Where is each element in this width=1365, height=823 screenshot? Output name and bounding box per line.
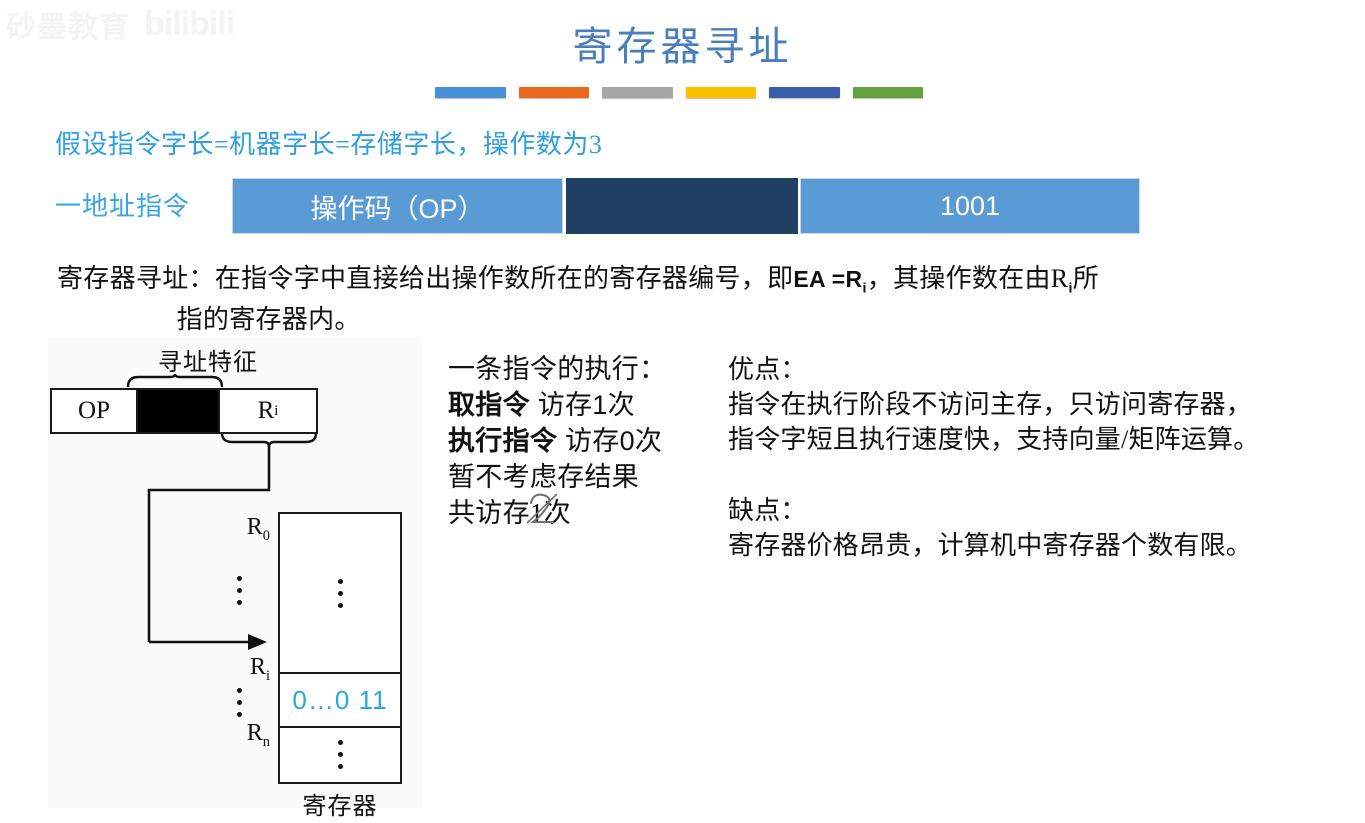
cons-heading: 缺点： bbox=[728, 493, 1348, 528]
slide: 砂墨教育 bilibili 寄存器寻址 假设指令字长=机器字长=存储字长，操作数… bbox=[0, 0, 1365, 823]
register-label-dots-upper bbox=[208, 576, 270, 605]
register-label-r0-letter: R bbox=[247, 514, 263, 540]
rule-segment-5 bbox=[769, 87, 840, 98]
register-label-rn-subscript: n bbox=[263, 734, 270, 750]
addressing-feature-caption: 寻址特征 bbox=[128, 342, 288, 377]
pros-line-2: 指令字短且执行速度快，支持向量/矩阵运算。 bbox=[728, 422, 1348, 457]
register-label-r0: R0 bbox=[208, 514, 270, 545]
word-opcode-field: OP bbox=[52, 390, 138, 432]
rule-segment-3 bbox=[602, 87, 673, 98]
page-title: 寄存器寻址 bbox=[0, 14, 1365, 72]
definition-ea-text: EA =R bbox=[793, 266, 862, 292]
execution-execute-count: 访存0次 bbox=[557, 426, 662, 456]
instruction-addressing-mode-cell bbox=[566, 178, 798, 234]
addressing-feature-brace-icon bbox=[126, 374, 224, 388]
definition-text-a: 寄存器寻址：在指令字中直接给出操作数所在的寄存器编号，即 bbox=[57, 264, 793, 293]
word-register-letter: R bbox=[258, 397, 275, 425]
rule-segment-2 bbox=[519, 87, 590, 98]
title-decorative-rule bbox=[435, 87, 923, 99]
pros-heading: 优点： bbox=[728, 352, 1348, 387]
register-label-r0-subscript: 0 bbox=[263, 528, 270, 544]
register-addressing-figure: 寻址特征 OP Ri 0…0 11 R0 Ri bbox=[48, 338, 423, 808]
instruction-opcode-cell: 操作码（OP） bbox=[232, 178, 563, 234]
rule-segment-6 bbox=[853, 87, 924, 98]
vertical-dots-icon bbox=[237, 688, 242, 717]
assumption-line: 假设指令字长=机器字长=存储字长，操作数为3 bbox=[55, 124, 602, 161]
register-label-ri-letter: R bbox=[250, 654, 266, 680]
rule-segment-4 bbox=[686, 87, 757, 98]
instruction-address-cell: 1001 bbox=[800, 178, 1140, 234]
execution-fetch-line: 取指令 访存1次 bbox=[448, 388, 718, 424]
definition-text-b: ，其操作数在由R bbox=[867, 264, 1069, 293]
word-register-field: Ri bbox=[218, 390, 316, 432]
word-addressing-mode-field bbox=[138, 390, 218, 432]
instruction-format-label: 一地址指令 bbox=[55, 186, 190, 223]
definition-line2: 指的寄存器内。 bbox=[57, 300, 1337, 340]
execution-heading: 一条指令的执行： bbox=[448, 352, 718, 388]
execution-note: 暂不考虑存结果 bbox=[448, 460, 718, 496]
rule-segment-1 bbox=[435, 87, 506, 98]
instruction-word-diagram: OP Ri bbox=[50, 388, 318, 434]
execution-total: 共访存1次 bbox=[448, 496, 718, 532]
instruction-format-row: 一地址指令 操作码（OP） 1001 bbox=[55, 178, 1140, 236]
register-label-dots-lower bbox=[208, 688, 270, 717]
execution-fetch-count: 访存1次 bbox=[530, 390, 635, 420]
execution-fetch-label: 取指令 bbox=[448, 390, 530, 420]
register-file-lower-cell bbox=[280, 728, 400, 781]
handwritten-annotation-icon bbox=[523, 489, 565, 529]
pros-cons-column: 优点： 指令在执行阶段不访问主存，只访问寄存器， 指令字短且执行速度快，支持向量… bbox=[728, 352, 1348, 563]
register-file-caption: 寄存器 bbox=[278, 786, 402, 821]
vertical-dots-icon bbox=[237, 576, 242, 605]
word-register-subscript: i bbox=[274, 403, 278, 420]
register-label-rn: Rn bbox=[208, 720, 270, 751]
cons-line-1: 寄存器价格昂贵，计算机中寄存器个数有限。 bbox=[728, 528, 1348, 563]
vertical-dots-icon bbox=[338, 740, 343, 769]
pros-line-1: 指令在执行阶段不访问主存，只访问寄存器， bbox=[728, 387, 1348, 422]
execution-execute-line: 执行指令 访存0次 bbox=[448, 424, 718, 460]
execution-execute-label: 执行指令 bbox=[448, 426, 557, 456]
definition-text-c: 所 bbox=[1073, 264, 1099, 293]
definition-ea: EA =Ri bbox=[793, 266, 866, 292]
register-file-target-cell: 0…0 11 bbox=[280, 674, 400, 728]
register-file-upper-cell bbox=[280, 514, 400, 674]
pros-cons-spacer bbox=[728, 457, 1348, 493]
execution-summary-column: 一条指令的执行： 取指令 访存1次 执行指令 访存0次 暂不考虑存结果 共访存1… bbox=[448, 352, 718, 532]
register-file-box: 0…0 11 bbox=[278, 512, 402, 784]
register-label-rn-letter: R bbox=[247, 720, 263, 746]
definition-paragraph: 寄存器寻址：在指令字中直接给出操作数所在的寄存器编号，即EA =Ri，其操作数在… bbox=[57, 259, 1337, 340]
register-label-ri-subscript: i bbox=[266, 668, 270, 684]
register-label-ri: Ri bbox=[208, 654, 270, 685]
vertical-dots-icon bbox=[338, 579, 343, 608]
